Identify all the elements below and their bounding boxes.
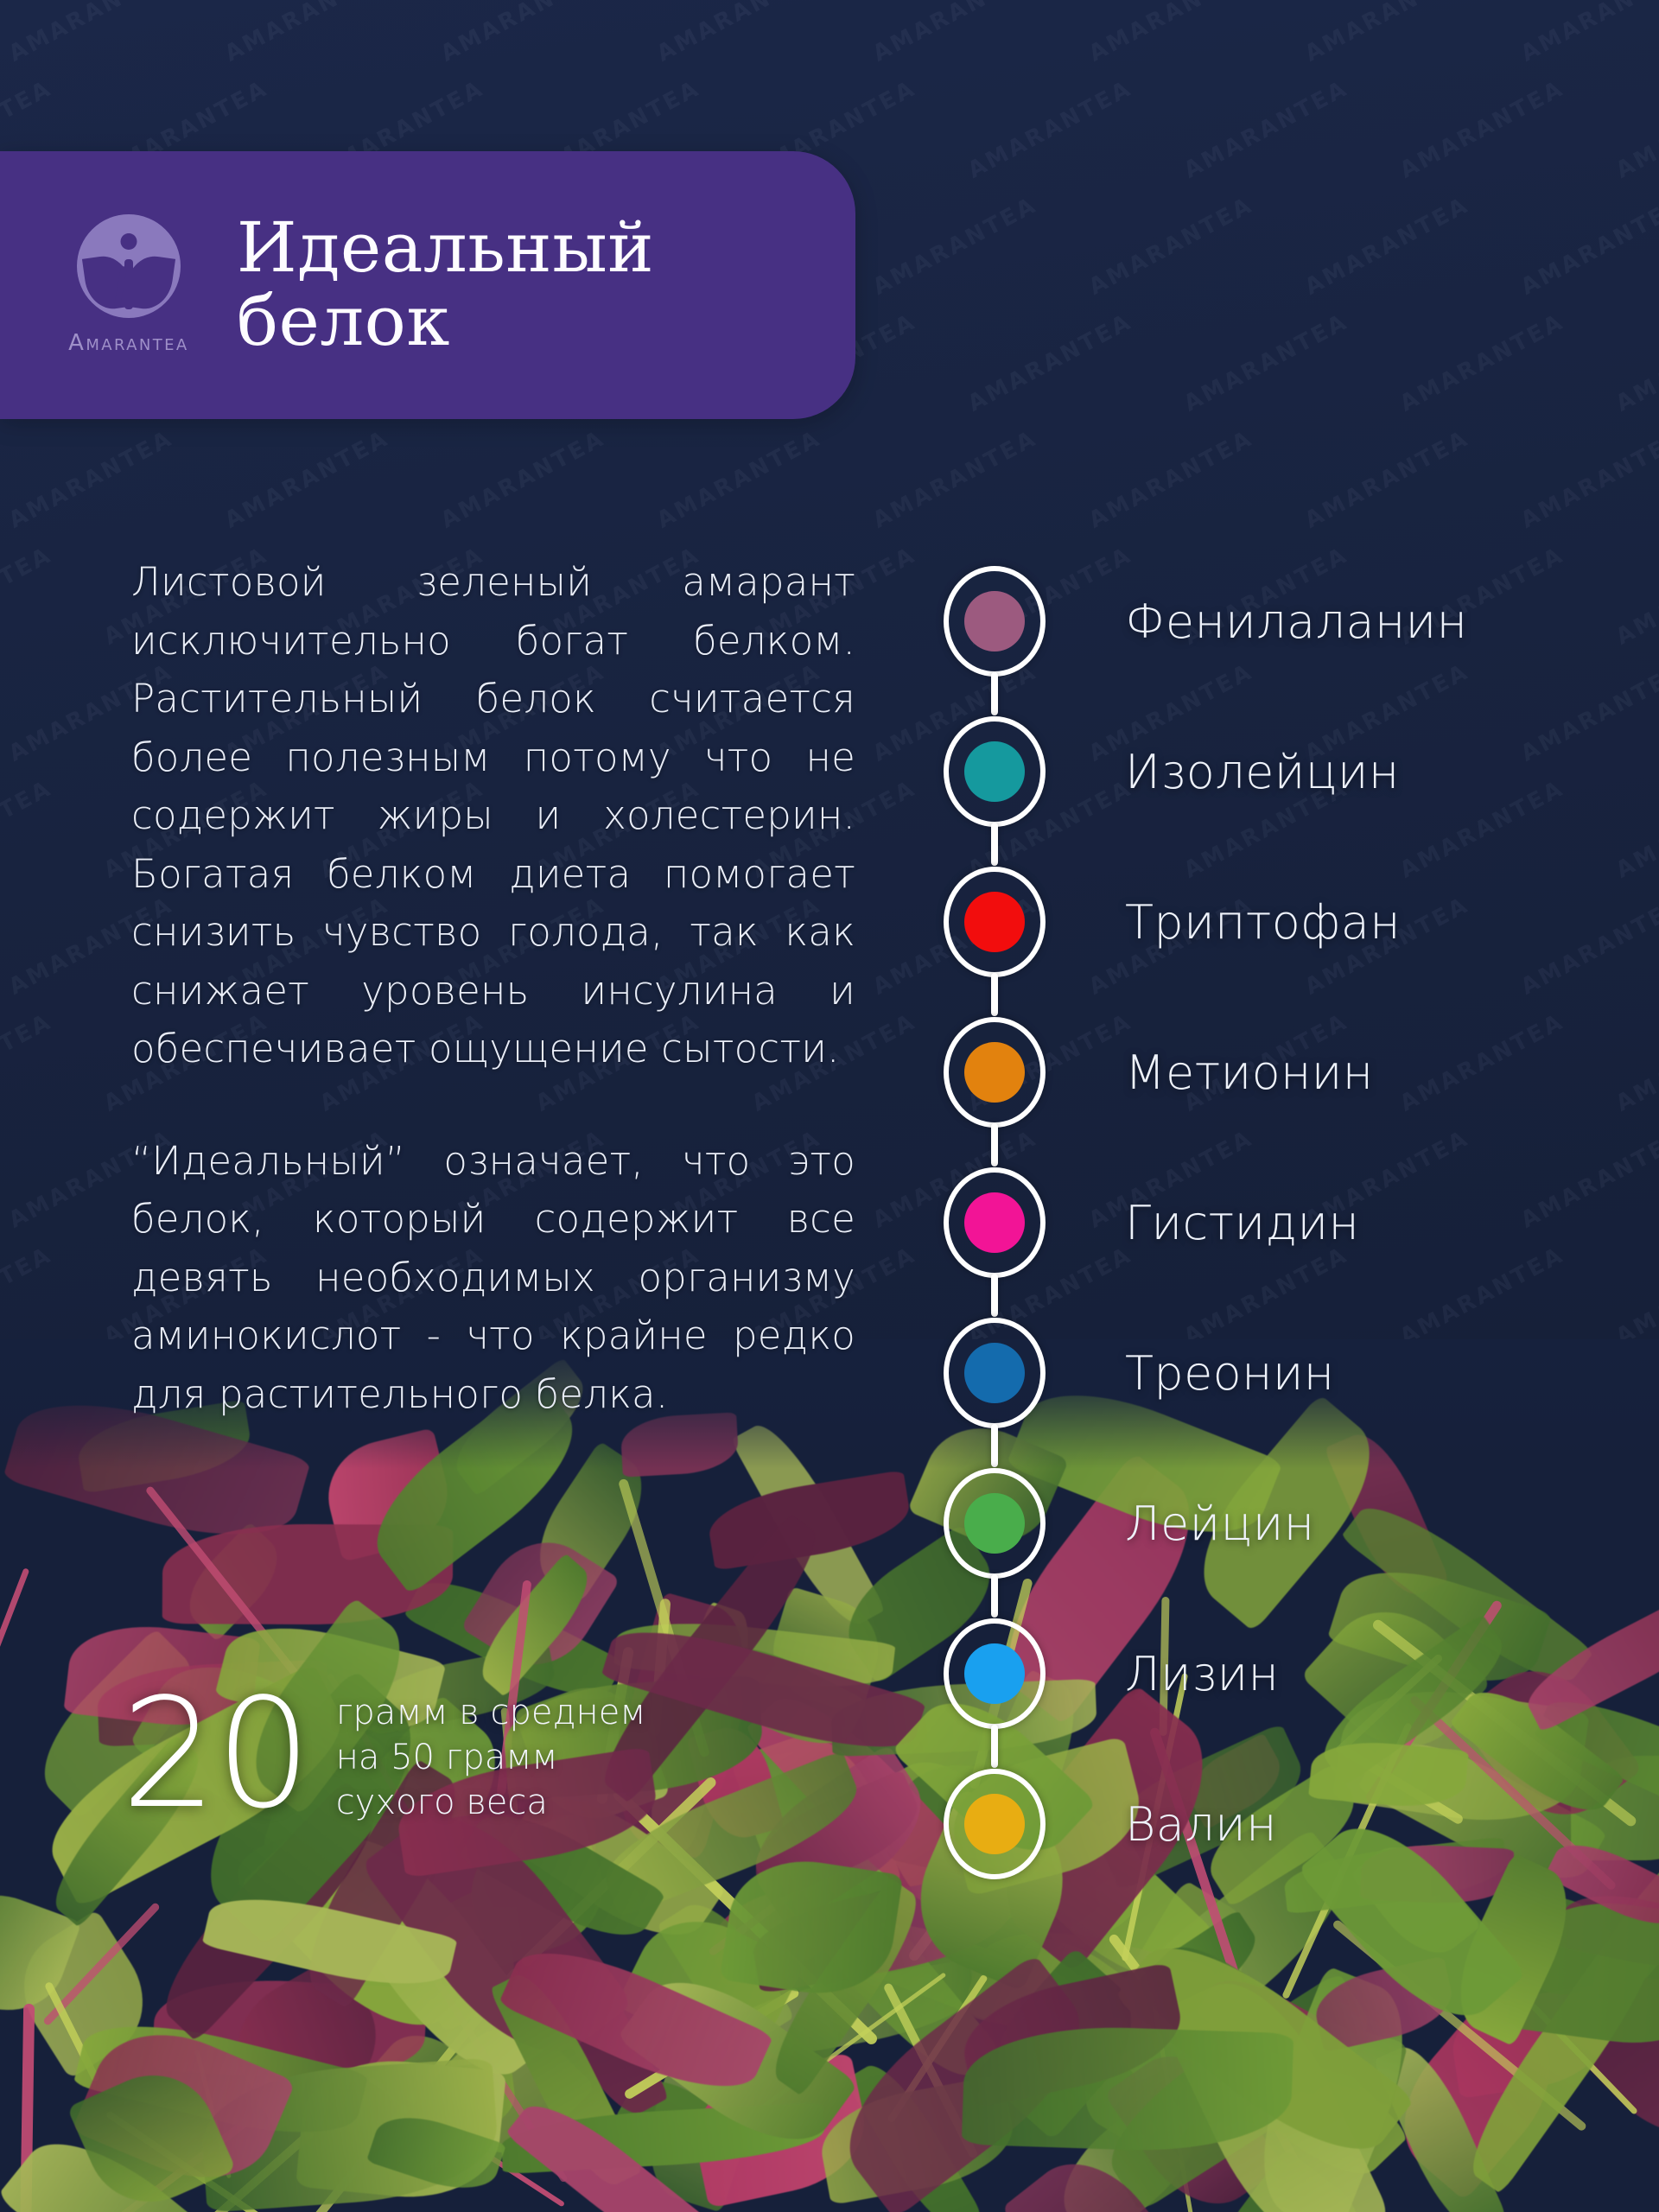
amino-acid-label: Триптофан xyxy=(1125,895,1401,950)
body-text-column: Листовой зеленый амарант исключительно б… xyxy=(131,553,855,1423)
watermark-text: AMARANTEA xyxy=(1300,0,1473,67)
watermark-text: AMARANTEA xyxy=(1611,75,1659,183)
brand-logo[interactable]: Amarantea xyxy=(35,214,223,356)
amino-acid-node[interactable]: Изолейцин xyxy=(944,696,1600,847)
stat-caption-line-2: на 50 грамм xyxy=(336,1735,646,1780)
header-panel: Amarantea Идеальный белок xyxy=(0,151,855,419)
amino-color-dot xyxy=(964,741,1025,802)
amino-acid-label: Треонин xyxy=(1125,1346,1335,1401)
watermark-text: AMARANTEA xyxy=(1395,308,1568,416)
amino-color-dot xyxy=(964,1343,1025,1403)
watermark-text: AMARANTEA xyxy=(963,308,1136,416)
amino-acid-node[interactable]: Гистидин xyxy=(944,1147,1600,1298)
watermark-text: AMARANTEA xyxy=(436,0,609,67)
watermark-text: AMARANTEA xyxy=(652,0,825,67)
amino-acid-node[interactable]: Фенилаланин xyxy=(944,546,1600,696)
amino-color-dot xyxy=(964,1794,1025,1854)
watermark-text: AMARANTEA xyxy=(1516,192,1659,300)
watermark-text: AMARANTEA xyxy=(4,0,177,67)
watermark-text: AMARANTEA xyxy=(1300,425,1473,533)
watermark-text: AMARANTEA xyxy=(1395,75,1568,183)
watermark-text: AMARANTEA xyxy=(0,775,56,883)
watermark-text: AMARANTEA xyxy=(868,425,1041,533)
amino-color-dot xyxy=(964,1643,1025,1704)
amino-acid-chain: ФенилаланинИзолейцинТриптофанМетионинГис… xyxy=(944,546,1600,1899)
paragraph-2: “Идеальный” означает, что это белок, кот… xyxy=(131,1132,855,1424)
stat-caption-line-3: сухого веса xyxy=(336,1780,646,1825)
amino-color-dot xyxy=(964,892,1025,952)
amino-color-dot xyxy=(964,1042,1025,1103)
watermark-text: AMARANTEA xyxy=(220,0,393,67)
watermark-text: AMARANTEA xyxy=(1516,0,1659,67)
amino-color-dot xyxy=(964,591,1025,652)
watermark-text: AMARANTEA xyxy=(1084,0,1257,67)
amino-acid-label: Метионин xyxy=(1125,1046,1373,1100)
watermark-text: AMARANTEA xyxy=(1611,1242,1659,1350)
watermark-text: AMARANTEA xyxy=(0,542,56,650)
stat-caption: грамм в среднемна 50 граммсухого веса xyxy=(336,1690,646,1825)
amino-acid-label: Фенилаланин xyxy=(1125,594,1467,649)
watermark-text: AMARANTEA xyxy=(963,75,1136,183)
watermark-text: AMARANTEA xyxy=(0,1242,56,1350)
amino-acid-node[interactable]: Валин xyxy=(944,1749,1600,1899)
amino-acid-label: Гистидин xyxy=(1125,1196,1359,1250)
watermark-text: AMARANTEA xyxy=(1300,192,1473,300)
watermark-text: AMARANTEA xyxy=(1179,308,1352,416)
watermark-text: AMARANTEA xyxy=(436,425,609,533)
watermark-text: AMARANTEA xyxy=(652,425,825,533)
amino-acid-node[interactable]: Метионин xyxy=(944,997,1600,1147)
watermark-text: AMARANTEA xyxy=(1084,192,1257,300)
stat-caption-line-1: грамм в среднем xyxy=(336,1690,646,1735)
amino-acid-node[interactable]: Лизин xyxy=(944,1599,1600,1749)
stat-number: 20 xyxy=(121,1685,310,1826)
amino-acid-node[interactable]: Триптофан xyxy=(944,847,1600,997)
poster-page: AMARANTEAAMARANTEAAMARANTEAAMARANTEAAMAR… xyxy=(0,0,1659,2212)
watermark-text: AMARANTEA xyxy=(4,425,177,533)
amino-color-dot xyxy=(964,1192,1025,1253)
logo-seed-dot xyxy=(120,233,137,250)
amino-acid-label: Лизин xyxy=(1125,1647,1279,1701)
protein-stat: 20 грамм в среднемна 50 граммсухого веса xyxy=(121,1685,645,1826)
watermark-text: AMARANTEA xyxy=(220,425,393,533)
brand-name: Amarantea xyxy=(68,330,188,356)
amino-acid-node[interactable]: Лейцин xyxy=(944,1448,1600,1599)
amino-acid-label: Лейцин xyxy=(1125,1497,1314,1551)
amaranth-plant-circle-icon xyxy=(77,214,181,318)
watermark-text: AMARANTEA xyxy=(868,0,1041,67)
watermark-text: AMARANTEA xyxy=(0,1008,56,1116)
watermark-text: AMARANTEA xyxy=(1611,308,1659,416)
amino-acid-label: Изолейцин xyxy=(1125,745,1400,799)
amino-acid-node[interactable]: Треонин xyxy=(944,1298,1600,1448)
amino-acid-label: Валин xyxy=(1125,1797,1277,1852)
page-title: Идеальный белок xyxy=(237,212,855,359)
amino-color-dot xyxy=(964,1493,1025,1554)
watermark-text: AMARANTEA xyxy=(1179,75,1352,183)
watermark-text: AMARANTEA xyxy=(1084,425,1257,533)
watermark-text: AMARANTEA xyxy=(1611,775,1659,883)
watermark-text: AMARANTEA xyxy=(1611,542,1659,650)
watermark-text: AMARANTEA xyxy=(1516,425,1659,533)
paragraph-1: Листовой зеленый амарант исключительно б… xyxy=(131,553,855,1078)
watermark-text: AMARANTEA xyxy=(868,192,1041,300)
watermark-text: AMARANTEA xyxy=(1611,1008,1659,1116)
